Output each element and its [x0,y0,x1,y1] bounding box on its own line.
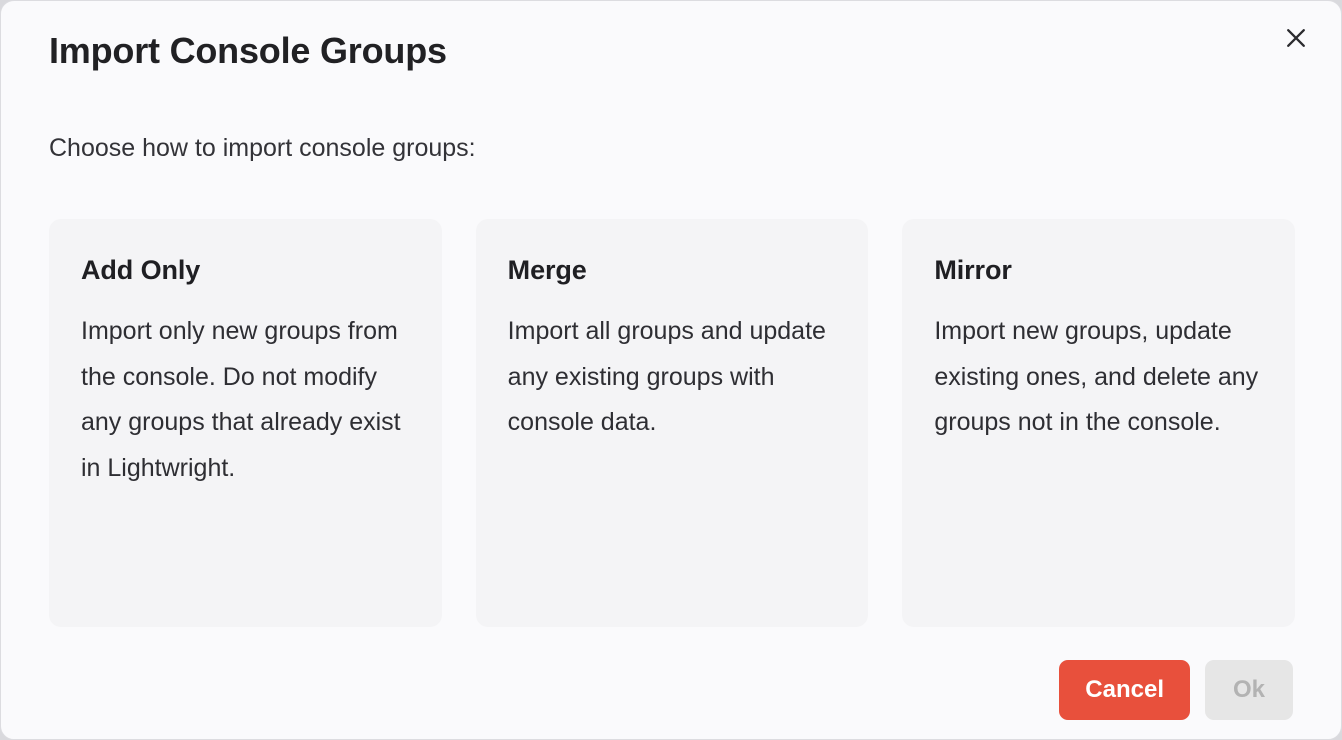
ok-button[interactable]: Ok [1205,660,1293,720]
option-card-merge[interactable]: Merge Import all groups and update any e… [476,219,869,627]
close-button[interactable] [1277,19,1315,57]
option-title: Merge [508,253,837,287]
option-description: Import new groups, update existing ones,… [934,309,1263,446]
dialog-subtitle: Choose how to import console groups: [49,132,476,164]
dialog-footer: Cancel Ok [1,660,1341,720]
option-description: Import all groups and update any existin… [508,309,837,446]
cancel-button[interactable]: Cancel [1059,660,1190,720]
option-title: Mirror [934,253,1263,287]
dialog-title: Import Console Groups [49,27,447,75]
import-mode-options: Add Only Import only new groups from the… [49,219,1295,627]
option-card-add-only[interactable]: Add Only Import only new groups from the… [49,219,442,627]
import-console-groups-dialog: Import Console Groups Choose how to impo… [0,0,1342,740]
option-description: Import only new groups from the console.… [81,309,410,491]
close-icon [1285,27,1307,49]
option-card-mirror[interactable]: Mirror Import new groups, update existin… [902,219,1295,627]
option-title: Add Only [81,253,410,287]
